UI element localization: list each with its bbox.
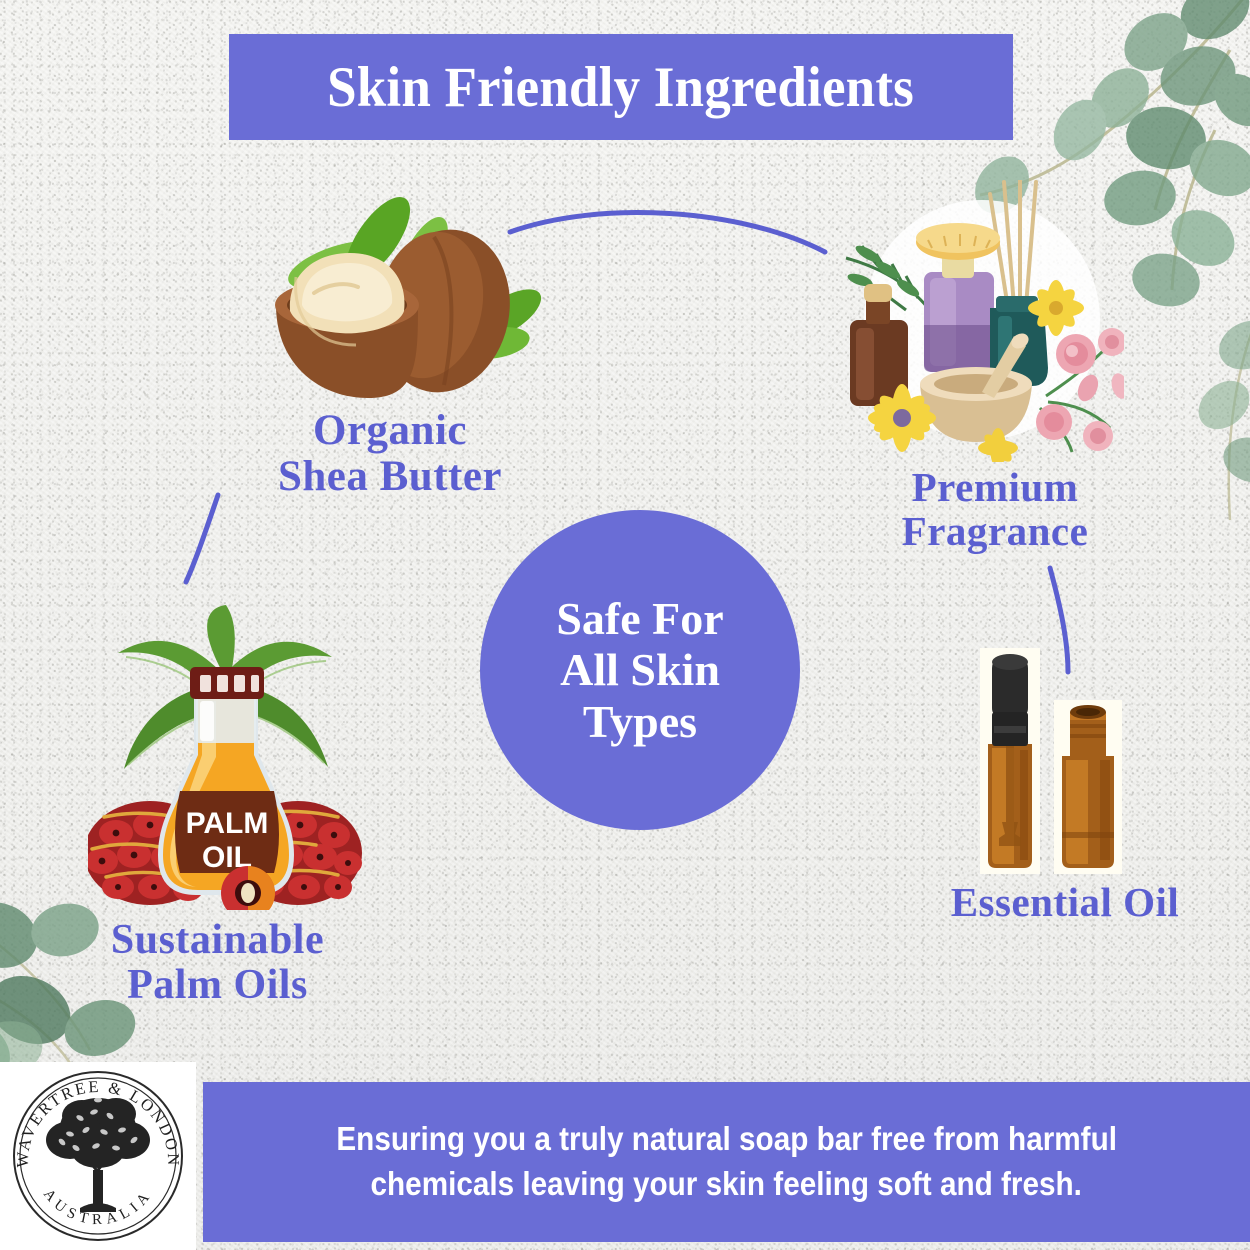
page-title: Skin Friendly Ingredients: [328, 55, 915, 120]
brand-logo: WAVERTREE & LONDON AUSTRALIA: [0, 1062, 196, 1250]
footer-line-1: Ensuring you a truly natural soap bar fr…: [336, 1117, 1117, 1162]
center-badge-line-1: Safe For: [556, 593, 723, 645]
label-essential-oil: Essential Oil: [890, 880, 1240, 924]
label-sustainable-palm-oils-line-2: Palm Oils: [45, 963, 390, 1008]
center-badge-line-2: All Skin: [560, 644, 720, 696]
label-essential-oil-line-1: Essential Oil: [890, 880, 1240, 924]
label-shea-butter: Organic Shea Butter: [205, 408, 575, 501]
perfume-bottles-icon: [832, 180, 1124, 462]
label-sustainable-palm-oils: Sustainable Palm Oils: [45, 918, 390, 1009]
palm-oil-bottle-icon: PALM OIL: [88, 605, 363, 910]
label-premium-fragrance-line-2: Fragrance: [845, 509, 1145, 553]
dropper-bottles-icon: [958, 638, 1143, 883]
title-banner: Skin Friendly Ingredients: [229, 34, 1013, 140]
label-premium-fragrance-line-1: Premium: [845, 465, 1145, 509]
footer-line-2: chemicals leaving your skin feeling soft…: [371, 1162, 1082, 1207]
label-shea-butter-line-1: Organic: [205, 408, 575, 454]
label-premium-fragrance: Premium Fragrance: [845, 465, 1145, 554]
tree-icon: [46, 1098, 150, 1212]
label-sustainable-palm-oils-line-1: Sustainable: [45, 918, 390, 963]
center-badge-line-3: Types: [583, 696, 697, 748]
palm-oil-bottle-label-line-1: PALM: [186, 807, 269, 840]
center-badge: Safe For All Skin Types: [480, 510, 800, 830]
label-shea-butter-line-2: Shea Butter: [205, 454, 575, 500]
footer-banner: Ensuring you a truly natural soap bar fr…: [203, 1082, 1250, 1242]
shea-nut-icon: [258, 193, 553, 413]
